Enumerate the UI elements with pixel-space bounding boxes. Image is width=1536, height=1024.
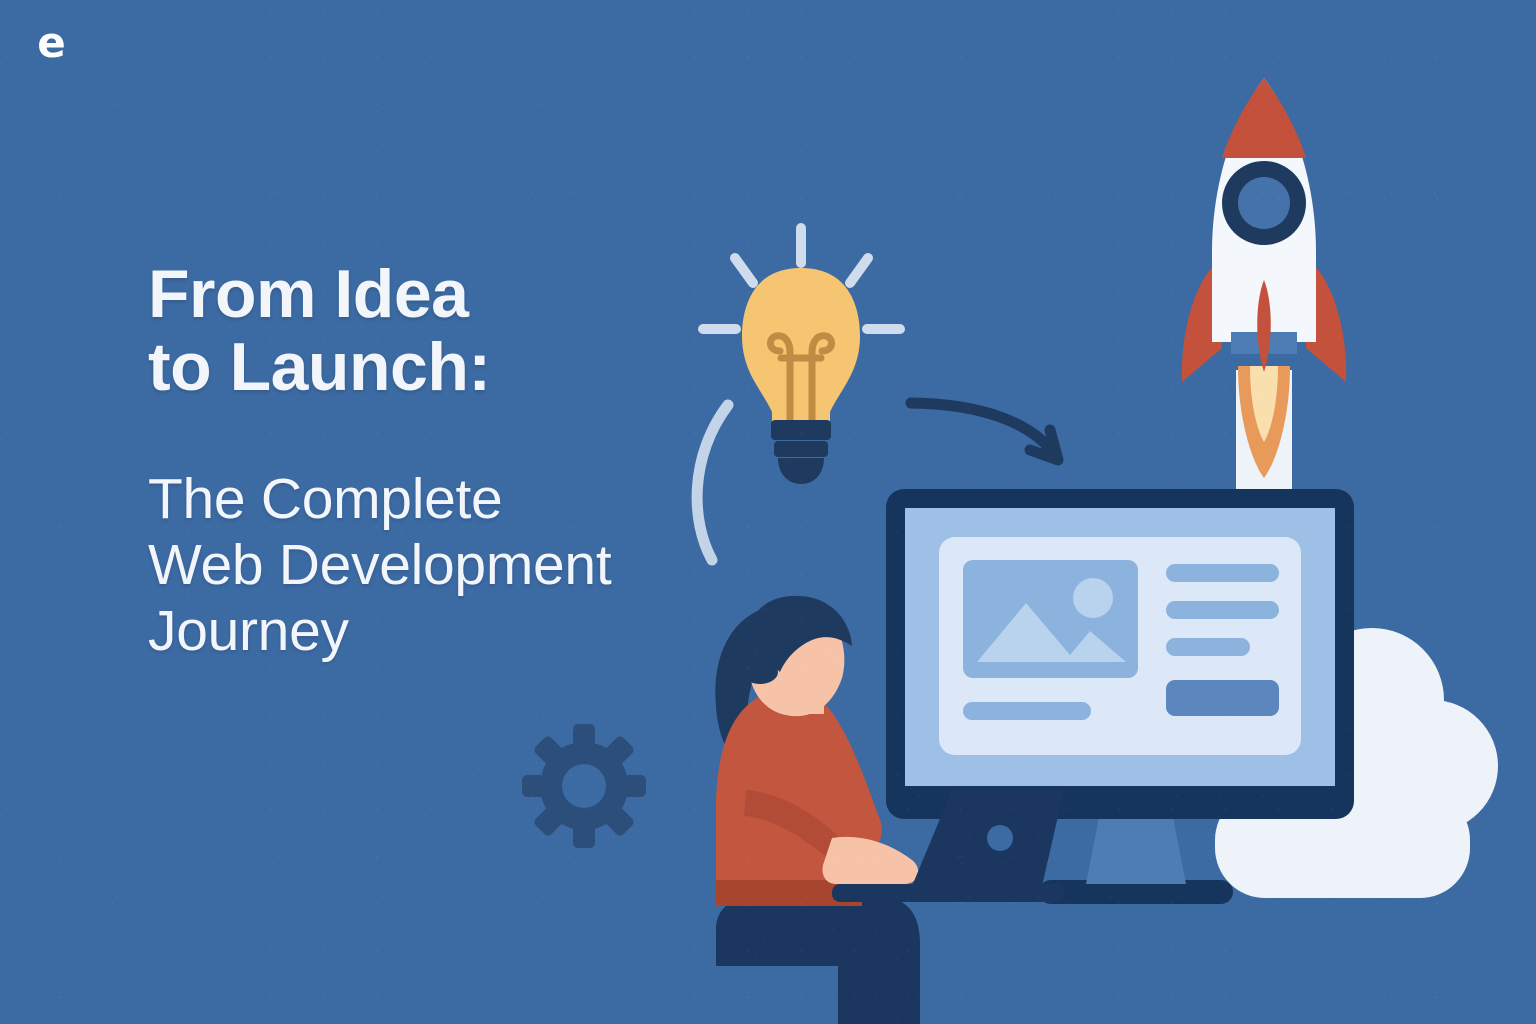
gear-icon [522, 724, 646, 848]
laptop-logo [987, 825, 1013, 851]
hero-banner: e From Idea to Launch: The Complete Web … [0, 0, 1536, 1024]
screen-text-line-1 [1166, 564, 1279, 582]
gear-hole [562, 764, 606, 808]
lightbulb-glass [742, 268, 860, 424]
curved-arc-icon [697, 405, 728, 560]
lightbulb-base-top [771, 420, 831, 440]
person-legs [716, 896, 920, 1024]
curved-arrow-icon [911, 403, 1058, 460]
monitor-stand [1086, 812, 1186, 884]
laptop-base [832, 884, 1064, 902]
image-placeholder-sun [1073, 578, 1113, 618]
lightbulb-base-mid [774, 441, 828, 457]
rocket-exhaust [1236, 366, 1292, 506]
person-hand [823, 837, 919, 884]
screen-text-line-3 [1166, 638, 1250, 656]
rocket-nose-cone [1222, 78, 1306, 158]
lightbulb-ray-top-right [850, 258, 868, 283]
lightbulb-base-tip [778, 458, 824, 484]
rocket-porthole-glass [1238, 177, 1290, 229]
lightbulb-ray-top-left [735, 258, 753, 283]
screen-cta-button[interactable] [1166, 680, 1279, 716]
screen-text-line-bottom [963, 702, 1091, 720]
screen-text-line-2 [1166, 601, 1279, 619]
illustration-layer [0, 0, 1536, 1024]
rocket-icon [1182, 78, 1346, 382]
image-placeholder-icon [963, 560, 1138, 678]
lightbulb-icon [742, 268, 860, 484]
person-hair-tie [742, 660, 778, 684]
